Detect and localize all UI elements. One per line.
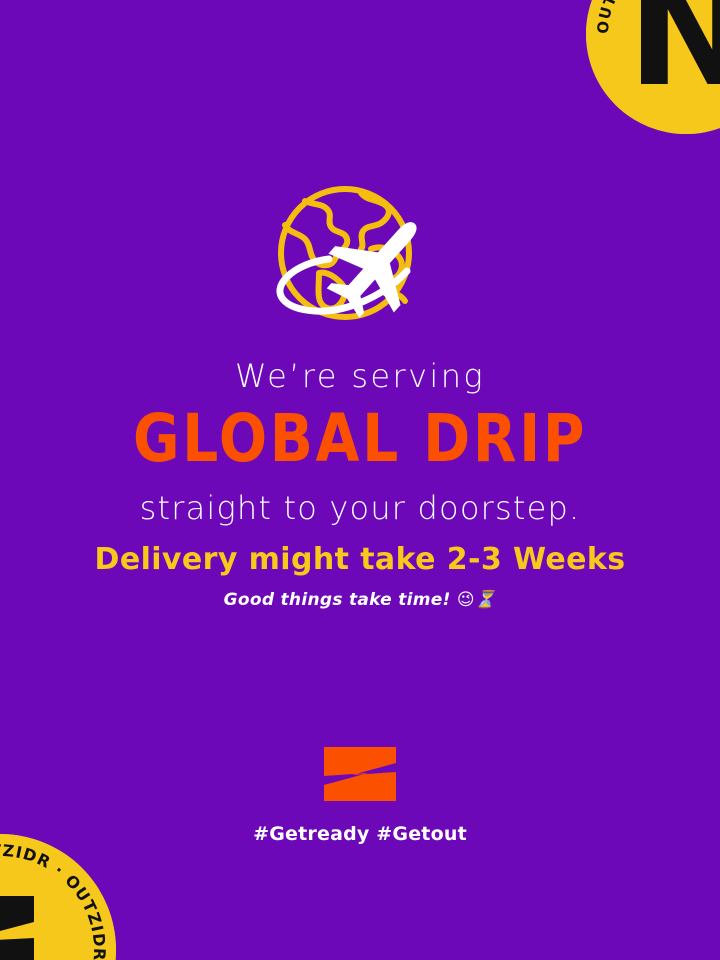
delivery-subnote: Good things take time! 😉⏳ (0, 592, 720, 609)
brand-badge-bottom-left: OUTZIDR · OUTZIDR · OUTZIDR · OUTZIDR (0, 834, 116, 960)
badge-center-letter: N (627, 0, 720, 120)
poster-canvas: OUTZIDR · OUTZIDR · OUTZIDR · N OUTZIDR … (0, 0, 720, 960)
hashtags-label: #Getready #Getout (0, 823, 720, 845)
headline-block: We’re serving GLOBAL DRIP straight to yo… (0, 360, 720, 524)
brand-badge-top-right: OUTZIDR · OUTZIDR · OUTZIDR · N (586, 0, 720, 134)
brand-z-logo-icon (322, 745, 398, 803)
headline-tail: straight to your doorstep. (0, 492, 720, 524)
headline-main: GLOBAL DRIP (50, 406, 669, 472)
headline-kicker: We’re serving (0, 360, 720, 392)
delivery-notice: Delivery might take 2-3 Weeks (0, 545, 720, 575)
globe-airplane-illustration (235, 175, 485, 340)
footer-block: #Getready #Getout (0, 745, 720, 845)
delivery-block: Delivery might take 2-3 Weeks Good thing… (0, 545, 720, 609)
